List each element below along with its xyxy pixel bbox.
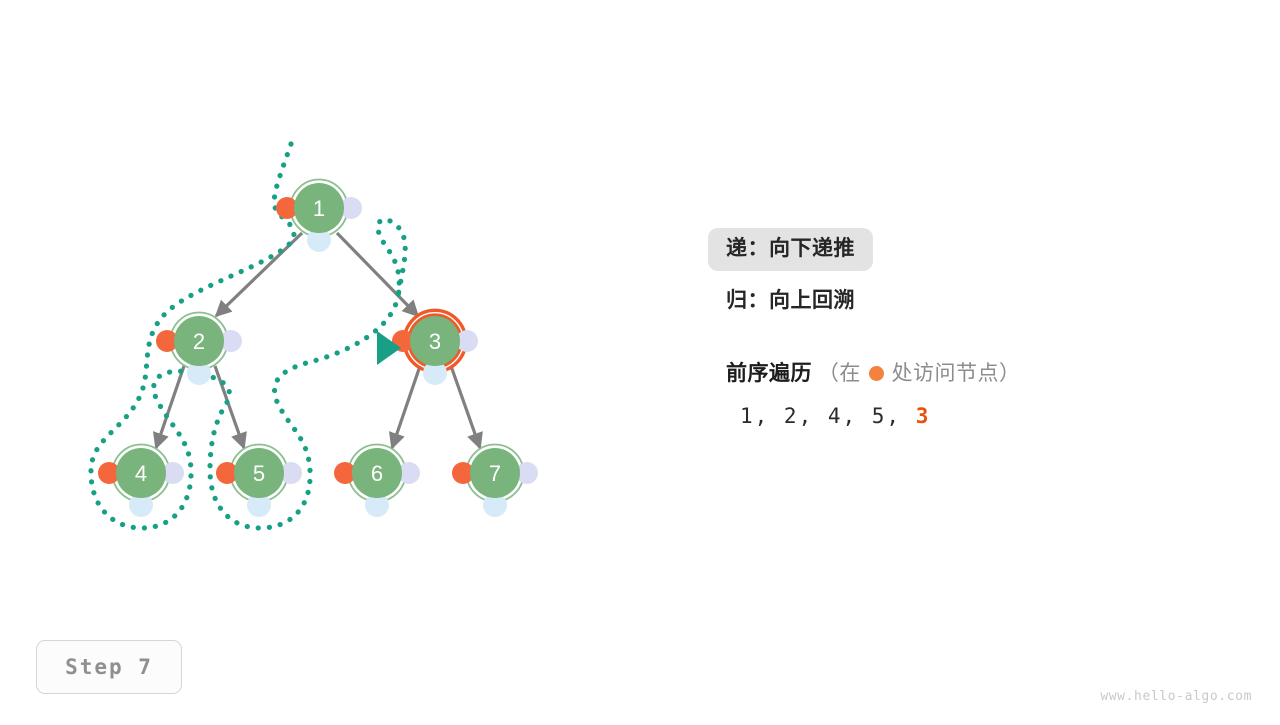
node-value-label: 1: [313, 196, 325, 221]
tree-node-4[interactable]: 4: [98, 445, 184, 518]
tree-edge-3-6: [392, 366, 420, 448]
site-watermark: www.hello-algo.com: [1100, 689, 1252, 704]
binary-tree-diagram: 1234567: [0, 0, 700, 720]
tree-edge-3-7: [451, 366, 480, 448]
node-value-label: 4: [135, 461, 147, 486]
traversal-title-row: 前序遍历 （在 处访问节点）: [726, 361, 1246, 386]
node-value-label: 2: [193, 329, 205, 354]
node-value-label: 5: [253, 461, 265, 486]
legend-row-recurse-down: 递：向下递推: [708, 228, 873, 271]
legend-group: 递：向下递推 归：向上回溯: [726, 228, 1246, 323]
node-value-label: 3: [429, 329, 441, 354]
legend-recurse-down-text: 递：向下递推: [726, 237, 855, 260]
tree-node-6[interactable]: 6: [334, 445, 420, 518]
node-value-label: 7: [489, 461, 501, 486]
legend-backtrack-up-text: 归：向上回溯: [726, 289, 855, 312]
traversal-sequence: 1, 2, 4, 5, 3: [740, 404, 1246, 428]
traversal-note-before: （在: [818, 362, 861, 385]
tree-node-7[interactable]: 7: [452, 445, 538, 518]
tree-svg: 1234567: [0, 0, 700, 720]
traversal-title: 前序遍历: [726, 362, 812, 385]
tree-node-3[interactable]: 3: [392, 310, 478, 385]
tree-node-1[interactable]: 1: [276, 180, 362, 253]
info-panel: 递：向下递推 归：向上回溯 前序遍历 （在 处访问节点） 1, 2, 4, 5,…: [726, 228, 1246, 428]
step-badge: Step 7: [36, 640, 182, 694]
orange-dot-icon: [869, 366, 884, 381]
tree-edge-2-5: [215, 366, 244, 448]
node-value-label: 6: [371, 461, 383, 486]
traversal-sequence-visited: 1, 2, 4, 5,: [740, 404, 901, 428]
legend-row-backtrack-up: 归：向上回溯: [726, 280, 855, 323]
tree-node-5[interactable]: 5: [216, 445, 302, 518]
tree-nodes: 1234567: [98, 180, 538, 518]
traversal-order-block: 前序遍历 （在 处访问节点） 1, 2, 4, 5, 3: [726, 361, 1246, 428]
step-badge-label: Step 7: [65, 655, 153, 679]
traversal-note-after: 处访问节点）: [892, 362, 1021, 385]
tree-edge-1-3: [337, 233, 418, 316]
traversal-sequence-current: 3: [916, 404, 931, 428]
